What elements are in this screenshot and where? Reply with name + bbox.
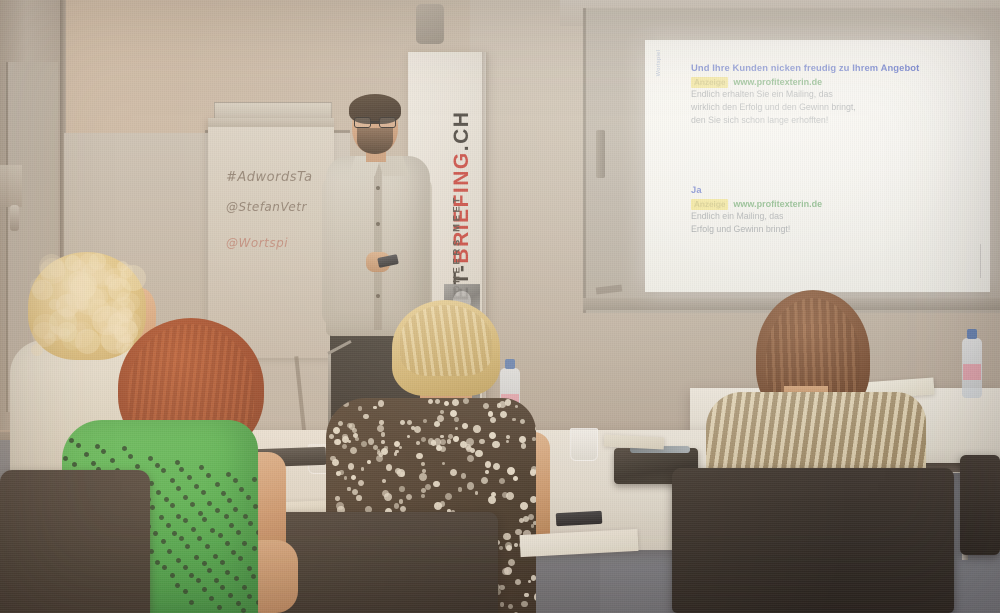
door-sign — [0, 165, 22, 207]
ad-headline[interactable]: Und Ihre Kunden nicken freudig zu Ihrem … — [691, 62, 919, 75]
ad-description-line: wirklich den Erfolg und den Gewinn bring… — [691, 102, 919, 114]
flipchart: #AdwordsTa @StefanVetr @Wortspi — [208, 118, 334, 358]
ad-url[interactable]: www.profitexterin.de — [733, 199, 822, 209]
slide-vertical-label: Wortspiel — [656, 40, 662, 91]
banner-title-suffix: .CH — [450, 111, 473, 152]
screen-bracket — [596, 130, 605, 178]
ad-url[interactable]: www.profitexterin.de — [733, 77, 822, 87]
wall-speaker-icon — [416, 4, 444, 44]
flipchart-line-2: @StefanVetr — [226, 200, 328, 214]
attendee-hair — [392, 300, 500, 396]
flipchart-line-3: @Wortspi — [226, 236, 322, 250]
ad-description-line: Erfolg und Gewinn bringt! — [691, 224, 822, 236]
water-bottle[interactable] — [962, 338, 982, 398]
ad-description-line: Endlich ein Mailing, das — [691, 211, 822, 223]
slide-edge-mark — [980, 244, 981, 278]
smartphone-on-table[interactable] — [556, 511, 603, 526]
plastic-cup[interactable] — [570, 428, 598, 461]
flipchart-line-1: #AdwordsTa — [226, 170, 328, 185]
ad-headline[interactable]: Ja — [691, 184, 822, 197]
chair[interactable] — [0, 470, 150, 613]
ad-badge: Anzeige — [691, 199, 728, 210]
ad-url-row: Anzeige www.profitexterin.de — [691, 77, 919, 88]
ad-description-line: den Sie sich schon lange erhofften! — [691, 115, 919, 127]
chair[interactable] — [672, 468, 954, 613]
shirt-button — [376, 186, 380, 190]
shirt-button — [376, 294, 380, 298]
ad-url-row: Anzeige www.profitexterin.de — [691, 199, 822, 210]
glasses-icon — [354, 117, 396, 128]
projected-slide: Wortspiel Und Ihre Kunden nicken freudig… — [645, 40, 990, 292]
presenter-beard — [357, 128, 393, 154]
attendee-hair — [28, 252, 146, 360]
ad-description-line: Endlich erhalten Sie ein Mailing, das — [691, 89, 919, 101]
flipchart-clamp — [208, 118, 334, 127]
search-ad-1: Und Ihre Kunden nicken freudig zu Ihrem … — [691, 62, 919, 127]
chair[interactable] — [960, 455, 1000, 555]
shirt-button — [376, 222, 380, 226]
seminar-room-photo: #AdwordsTa @StefanVetr @Wortspi NET-BRIE… — [0, 0, 1000, 613]
search-ad-2: Ja Anzeige www.profitexterin.de Endlich … — [691, 184, 822, 236]
door-handle-icon[interactable] — [10, 205, 19, 231]
ad-badge: Anzeige — [691, 77, 728, 88]
